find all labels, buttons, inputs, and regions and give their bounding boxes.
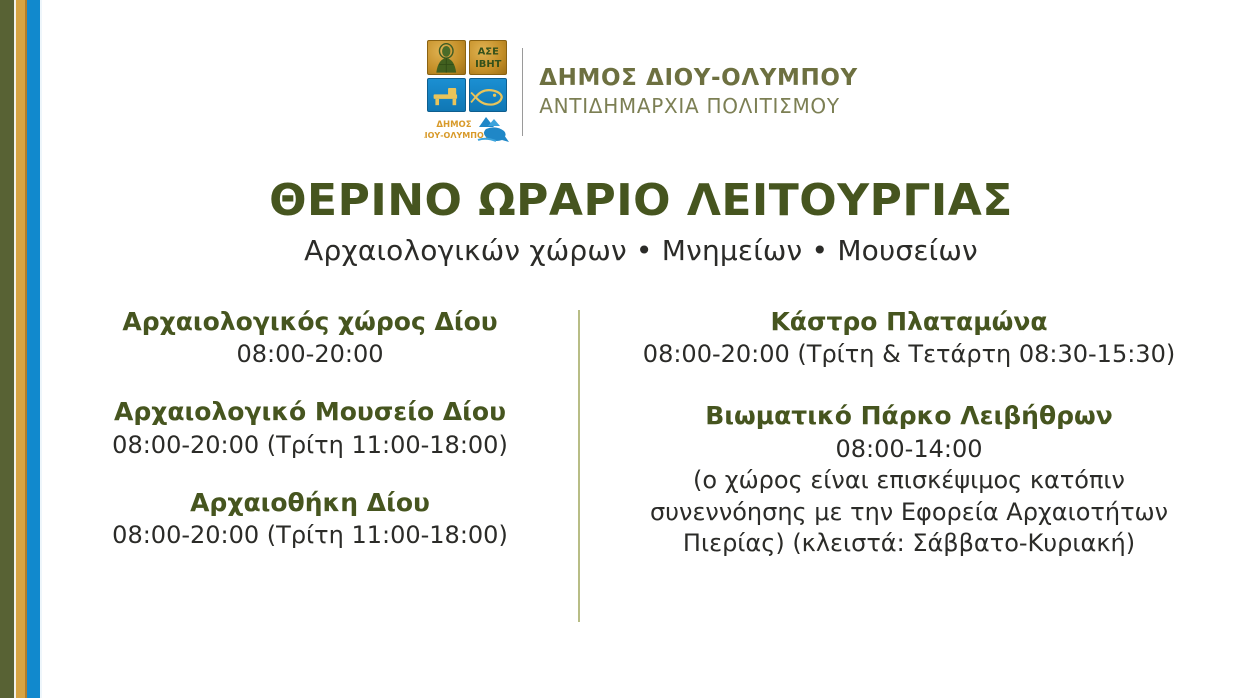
saint-figure-glyph xyxy=(428,41,465,74)
stripe-blue xyxy=(27,0,40,698)
svg-text:ΙΒΗΤ: ΙΒΗΤ xyxy=(475,59,502,70)
site-entry: Αρχαιοθήκη Δίου 08:00-20:00 (Τρίτη 11:00… xyxy=(64,487,556,551)
logo-text-divider xyxy=(522,48,523,136)
site-name: Αρχαιοθήκη Δίου xyxy=(64,487,556,518)
stripe-gold xyxy=(16,0,25,698)
site-name: Αρχαιολογικός χώρος Δίου xyxy=(64,306,556,337)
logo-tile-artifact-icon xyxy=(427,78,466,113)
title-block: ΘΕΡΙΝΟ ΩΡΑΡΙΟ ΛΕΙΤΟΥΡΓΙΑΣ Αρχαιολογικών … xyxy=(42,178,1240,268)
site-note-line: (ο χώρος είναι επισκέψιμος κατόπιν xyxy=(588,465,1230,497)
site-name: Βιωματικό Πάρκο Λειβήθρων xyxy=(588,400,1230,431)
left-stripe-band xyxy=(0,0,42,698)
site-hours: 08:00-20:00 (Τρίτη & Τετάρτη 08:30-15:30… xyxy=(588,339,1230,370)
sites-column-left: Αρχαιολογικός χώρος Δίου 08:00-20:00 Αρχ… xyxy=(42,306,578,577)
site-hours: 08:00-14:00 xyxy=(588,434,1230,465)
organisation-department: ΑΝΤΙΔΗΜΑΡΧΙΑ ΠΟΛΙΤΙΣΜΟΥ xyxy=(539,93,857,119)
organisation-text: ΔΗΜΟΣ ΔΙΟΥ-ΟΛΥΜΠΟΥ ΑΝΤΙΔΗΜΑΡΧΙΑ ΠΟΛΙΤΙΣΜ… xyxy=(539,64,857,119)
municipality-logo-icon: ΑΣΕ ΙΒΗΤ xyxy=(424,40,510,143)
wordmark-line1: ΔΗΜΟΣ xyxy=(437,120,472,130)
logo-tile-saint-icon xyxy=(427,40,466,75)
page-subtitle: Αρχαιολογικών χώρων • Μνημείων • Μουσείω… xyxy=(42,234,1240,268)
organisation-name: ΔΗΜΟΣ ΔΙΟΥ-ΟΛΥΜΠΟΥ xyxy=(539,64,857,93)
logo-wordmark: ΔΗΜΟΣ ΔΙΟΥ-ΟΛΥΜΠΟΥ xyxy=(424,115,510,143)
svg-text:ΑΣΕ: ΑΣΕ xyxy=(477,47,498,58)
page-title: ΘΕΡΙΝΟ ΩΡΑΡΙΟ ΛΕΙΤΟΥΡΓΙΑΣ xyxy=(42,178,1240,224)
logo-tile-inscription-icon: ΑΣΕ ΙΒΗΤ xyxy=(469,40,508,75)
site-hours: 08:00-20:00 xyxy=(64,339,556,370)
artifact-glyph xyxy=(428,79,465,112)
site-entry: Βιωματικό Πάρκο Λειβήθρων 08:00-14:00 (ο… xyxy=(588,400,1230,559)
site-entry: Κάστρο Πλαταμώνα 08:00-20:00 (Τρίτη & Τε… xyxy=(588,306,1230,370)
site-entry: Αρχαιολογικό Μουσείο Δίου 08:00-20:00 (Τ… xyxy=(64,396,556,460)
poster-header: ΑΣΕ ΙΒΗΤ xyxy=(42,40,1240,143)
sites-columns: Αρχαιολογικός χώρος Δίου 08:00-20:00 Αρχ… xyxy=(42,306,1240,586)
stripe-olive xyxy=(0,0,14,698)
poster-canvas: ΑΣΕ ΙΒΗΤ xyxy=(42,0,1240,698)
logo-lockup: ΑΣΕ ΙΒΗΤ xyxy=(424,40,857,143)
logo-tile-vessel-icon xyxy=(469,78,508,113)
site-hours: 08:00-20:00 (Τρίτη 11:00-18:00) xyxy=(64,430,556,461)
greek-inscription-glyph: ΑΣΕ ΙΒΗΤ xyxy=(470,41,507,74)
logo-tile-grid: ΑΣΕ ΙΒΗΤ xyxy=(427,40,507,112)
sites-column-right: Κάστρο Πλαταμώνα 08:00-20:00 (Τρίτη & Τε… xyxy=(578,306,1240,586)
site-name: Κάστρο Πλαταμώνα xyxy=(588,306,1230,337)
site-hours: 08:00-20:00 (Τρίτη 11:00-18:00) xyxy=(64,520,556,551)
site-note-line: Πιερίας) (κλειστά: Σάββατο-Κυριακή) xyxy=(588,528,1230,560)
site-note-line: συνεννόησης με την Εφορεία Αρχαιοτήτων xyxy=(588,497,1230,529)
wordmark-and-dolphin-icon: ΔΗΜΟΣ ΔΙΟΥ-ΟΛΥΜΠΟΥ xyxy=(424,115,510,143)
vessel-glyph xyxy=(470,79,507,112)
site-name: Αρχαιολογικό Μουσείο Δίου xyxy=(64,396,556,427)
site-entry: Αρχαιολογικός χώρος Δίου 08:00-20:00 xyxy=(64,306,556,370)
